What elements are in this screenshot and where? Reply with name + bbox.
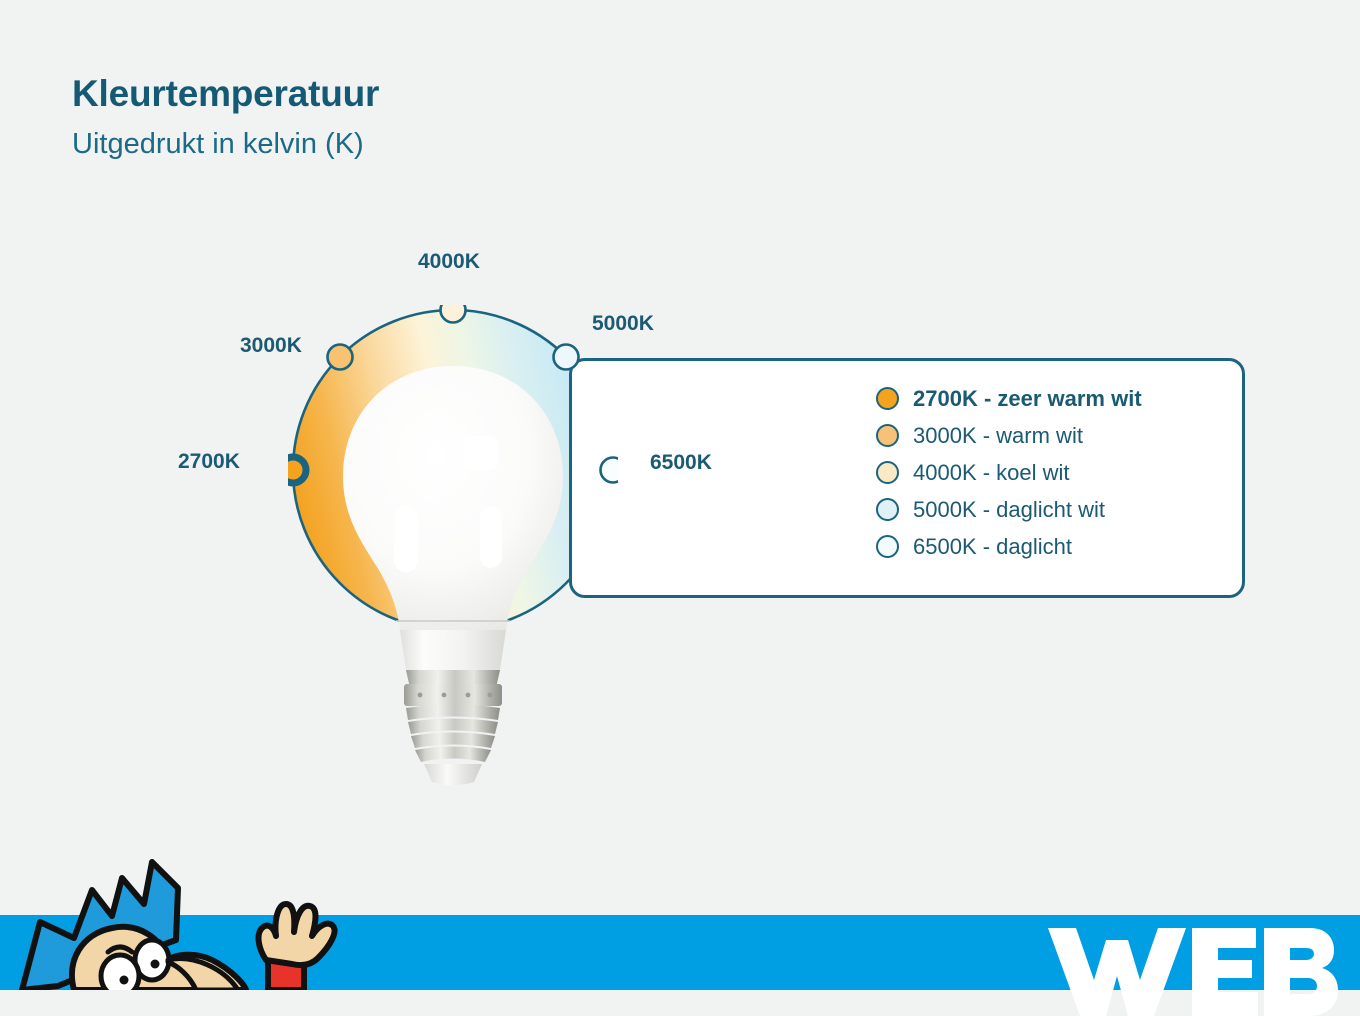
legend-swatch-2700k: [876, 387, 899, 410]
color-temperature-diagram: 2700K - zeer warm wit 3000K - warm wit 4…: [0, 230, 1360, 850]
legend-item[interactable]: 2700K - zeer warm wit: [876, 380, 1142, 417]
legend-swatch-4000k: [876, 461, 899, 484]
bulb-neck: [400, 630, 506, 670]
node-marker-6500k[interactable]: [601, 458, 619, 483]
node-label-5000k: 5000K: [592, 312, 654, 336]
weba-logo: [1042, 920, 1342, 1016]
legend-swatch-6500k: [876, 535, 899, 558]
base-thread: [415, 747, 491, 763]
base-dimple: [466, 693, 471, 698]
legend-label: 4000K - koel wit: [913, 460, 1070, 486]
node-marker-2700k-selected[interactable]: [288, 457, 306, 483]
legend-item[interactable]: 4000K - koel wit: [876, 454, 1142, 491]
base-thread: [411, 733, 495, 749]
base-dimple: [418, 693, 423, 698]
base-thread: [408, 719, 498, 735]
legend-label: 5000K - daglicht wit: [913, 497, 1105, 523]
base-dimple: [488, 693, 493, 698]
mascot-pupil-left: [120, 976, 129, 985]
mascot-pupil-right: [151, 960, 160, 969]
mascot-eye-left: [101, 955, 139, 990]
node-label-4000k: 4000K: [418, 250, 480, 274]
legend-label: 3000K - warm wit: [913, 423, 1083, 449]
heading-block: Kleurtemperatuur Uitgedrukt in kelvin (K…: [72, 74, 379, 161]
legend-list: 2700K - zeer warm wit 3000K - warm wit 4…: [876, 380, 1142, 565]
base-insulator-tip: [424, 764, 482, 785]
legend-swatch-5000k: [876, 498, 899, 521]
node-marker-4000k[interactable]: [441, 305, 466, 323]
legend-panel: 2700K - zeer warm wit 3000K - warm wit 4…: [569, 358, 1245, 598]
node-marker-3000k[interactable]: [328, 345, 353, 370]
legend-item[interactable]: 3000K - warm wit: [876, 417, 1142, 454]
legend-item[interactable]: 6500K - daglicht: [876, 528, 1142, 565]
node-label-3000k: 3000K: [240, 334, 302, 358]
node-marker-5000k[interactable]: [554, 345, 579, 370]
legend-label: 6500K - daglicht: [913, 534, 1072, 560]
legend-item[interactable]: 5000K - daglicht wit: [876, 491, 1142, 528]
base-thread: [406, 705, 500, 721]
base-dimple: [442, 693, 447, 698]
mascot-hand: [259, 904, 335, 965]
weba-mascot: [0, 848, 340, 990]
page-title: Kleurtemperatuur: [72, 74, 379, 115]
ring-node-markers: [288, 305, 618, 635]
node-label-6500k: 6500K: [650, 451, 712, 475]
legend-swatch-3000k: [876, 424, 899, 447]
node-label-2700k: 2700K: [178, 450, 240, 474]
legend-label: 2700K - zeer warm wit: [913, 386, 1142, 412]
page-subtitle: Uitgedrukt in kelvin (K): [72, 129, 379, 161]
